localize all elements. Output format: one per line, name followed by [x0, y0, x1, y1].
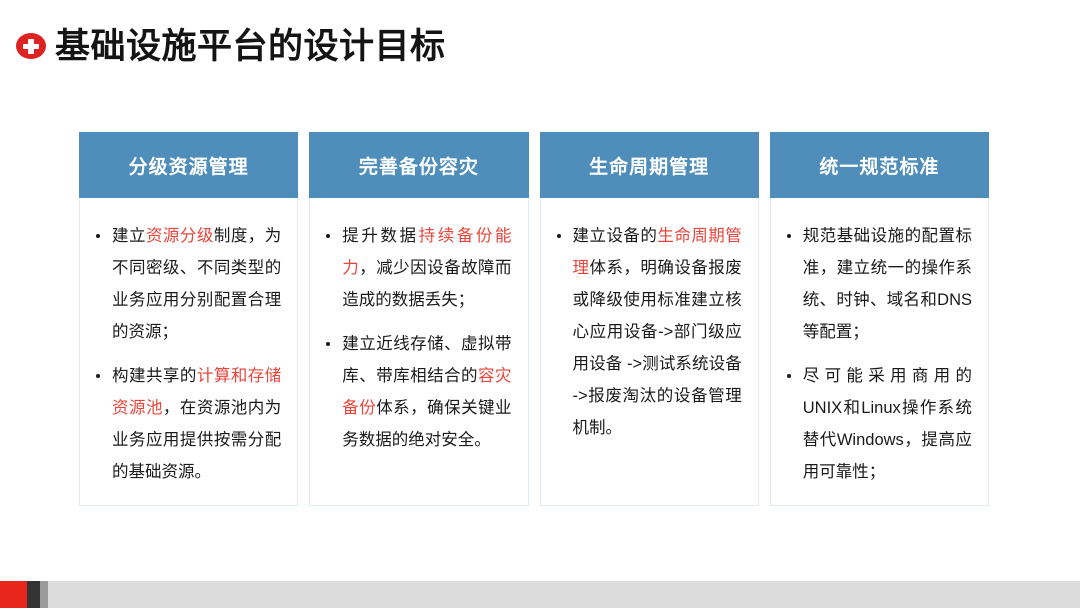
card-1-bullet-list: 提升数据持续备份能力，减少因设备故障而造成的数据丢失； 建立近线存储、虚拟带库、… [320, 220, 511, 456]
card-0-bullet-list: 建立资源分级制度，为不同密级、不同类型的业务应用分别配置合理的资源； 构建共享的… [90, 220, 281, 488]
card-2-body: 建立设备的生命周期管理体系，明确设备报废或降级使用标准建立核心应用设备->部门级… [540, 198, 759, 506]
list-item: 构建共享的计算和存储资源池，在资源池内为业务应用提供按需分配的基础资源。 [90, 360, 281, 488]
card-3-header-label: 统一规范标准 [819, 152, 939, 179]
card-grid: 分级资源管理 建立资源分级制度，为不同密级、不同类型的业务应用分别配置合理的资源… [79, 132, 989, 506]
text-run: 体系，明确设备报废或降级使用标准建立核心应用设备->部门级应用设备 ->测试系统… [573, 259, 742, 437]
card-0-body: 建立资源分级制度，为不同密级、不同类型的业务应用分别配置合理的资源； 构建共享的… [79, 198, 298, 506]
footer-segment-red [0, 581, 27, 608]
text-run-highlight: 资源分级 [146, 227, 214, 245]
card-1-body: 提升数据持续备份能力，减少因设备故障而造成的数据丢失； 建立近线存储、虚拟带库、… [309, 198, 528, 506]
card-3-bullet-list: 规范基础设施的配置标准，建立统一的操作系统、时钟、域名和DNS等配置； 尽可能采… [781, 220, 972, 488]
card-3: 统一规范标准 规范基础设施的配置标准，建立统一的操作系统、时钟、域名和DNS等配… [770, 132, 989, 506]
text-run: 提升数据 [342, 227, 418, 245]
card-1-header: 完善备份容灾 [309, 132, 528, 198]
card-2-bullet-list: 建立设备的生命周期管理体系，明确设备报废或降级使用标准建立核心应用设备->部门级… [551, 220, 742, 444]
page-title: 基础设施平台的设计目标 [55, 29, 446, 64]
plus-circle-icon [16, 33, 46, 59]
list-item: 规范基础设施的配置标准，建立统一的操作系统、时钟、域名和DNS等配置； [781, 220, 972, 348]
list-item: 建立资源分级制度，为不同密级、不同类型的业务应用分别配置合理的资源； [90, 220, 281, 348]
text-run: ，减少因设备故障而造成的数据丢失； [342, 259, 511, 309]
text-run: 建立设备的 [573, 227, 658, 245]
card-3-header: 统一规范标准 [770, 132, 989, 198]
footer-segment-light [48, 581, 1080, 608]
list-item: 尽可能采用商用的UNIX和Linux操作系统替代Windows，提高应用可靠性； [781, 360, 972, 488]
text-run: 尽可能采用商用的UNIX和Linux操作系统替代Windows，提高应用可靠性； [803, 367, 972, 481]
card-1-header-label: 完善备份容灾 [359, 152, 479, 179]
card-0: 分级资源管理 建立资源分级制度，为不同密级、不同类型的业务应用分别配置合理的资源… [79, 132, 298, 506]
list-item: 建立近线存储、虚拟带库、带库相结合的容灾备份体系，确保关键业务数据的绝对安全。 [320, 328, 511, 456]
card-2-header: 生命周期管理 [540, 132, 759, 198]
text-run: 构建共享的 [112, 367, 197, 385]
footer-segment-dark [27, 581, 40, 608]
footer-decoration-bar [0, 581, 1080, 608]
card-1: 完善备份容灾 提升数据持续备份能力，减少因设备故障而造成的数据丢失； 建立近线存… [309, 132, 528, 506]
slide-title-row: 基础设施平台的设计目标 [16, 20, 446, 72]
slide-root: 基础设施平台的设计目标 分级资源管理 建立资源分级制度，为不同密级、不同类型的业… [0, 0, 1080, 608]
card-2-header-label: 生命周期管理 [589, 152, 709, 179]
card-2: 生命周期管理 建立设备的生命周期管理体系，明确设备报废或降级使用标准建立核心应用… [540, 132, 759, 506]
footer-segment-mid [40, 581, 48, 608]
text-run: 规范基础设施的配置标准，建立统一的操作系统、时钟、域名和DNS等配置； [803, 227, 972, 341]
text-run: 建立 [112, 227, 146, 245]
card-3-body: 规范基础设施的配置标准，建立统一的操作系统、时钟、域名和DNS等配置； 尽可能采… [770, 198, 989, 506]
list-item: 提升数据持续备份能力，减少因设备故障而造成的数据丢失； [320, 220, 511, 316]
list-item: 建立设备的生命周期管理体系，明确设备报废或降级使用标准建立核心应用设备->部门级… [551, 220, 742, 444]
card-0-header: 分级资源管理 [79, 132, 298, 198]
card-0-header-label: 分级资源管理 [129, 152, 249, 179]
